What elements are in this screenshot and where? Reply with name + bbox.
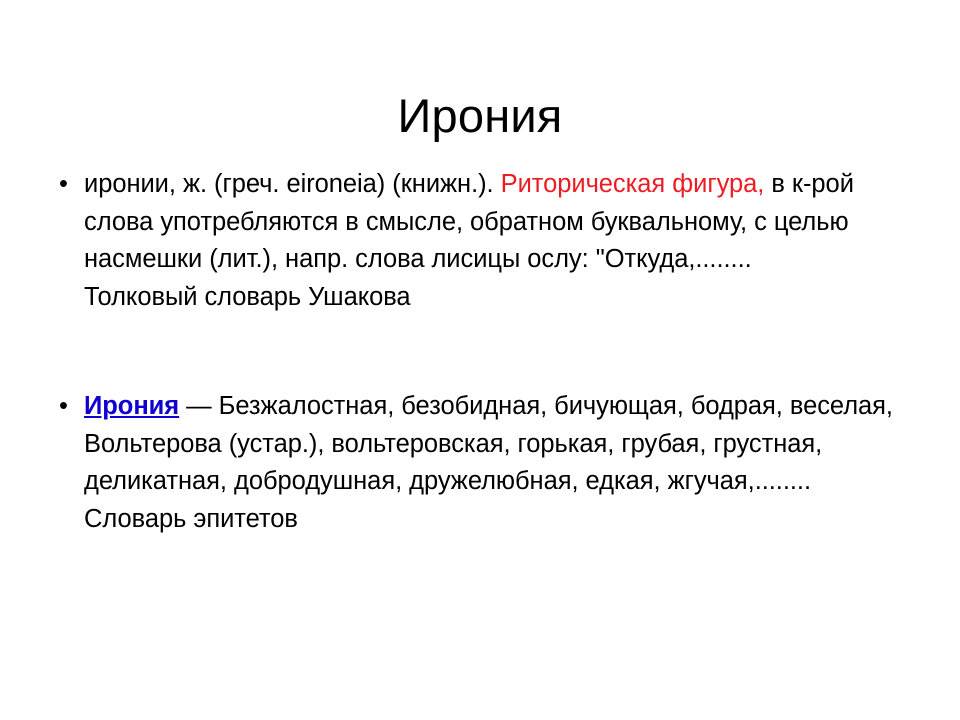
bullet-lead-text: иронии, ж. (греч. eironeia) (книжн.). [84, 170, 501, 198]
bullet-item-dictionary-ushakov: • иронии, ж. (греч. eironeia) (книжн.). … [56, 166, 926, 316]
bullet-text-ushakov: иронии, ж. (греч. eironeia) (книжн.). Ри… [84, 166, 926, 316]
bullet-point-icon: • [59, 388, 77, 426]
bullet-point-icon: • [59, 166, 77, 204]
source-label-epithets: Словарь эпитетов [84, 501, 926, 539]
slide-body: • иронии, ж. (греч. eironeia) (книжн.). … [56, 166, 926, 538]
bullet-text-epithets: Ирония — Безжалостная, безобидная, бичую… [84, 388, 926, 538]
hyperlink-ironiya[interactable]: Ирония [84, 392, 179, 420]
slide-canvas: Ирония • иронии, ж. (греч. eironeia) (кн… [0, 0, 960, 720]
source-label-ushakov: Толковый словарь Ушакова [84, 279, 926, 317]
bullet-item-dictionary-epithets: • Ирония — Безжалостная, безобидная, бич… [56, 388, 926, 538]
page-title: Ирония [0, 89, 960, 144]
bullet-rest-text: — Безжалостная, безобидная, бичующая, бо… [84, 392, 893, 495]
highlighted-term-ritoricheskaya-figura: Риторическая фигура, [501, 170, 765, 198]
